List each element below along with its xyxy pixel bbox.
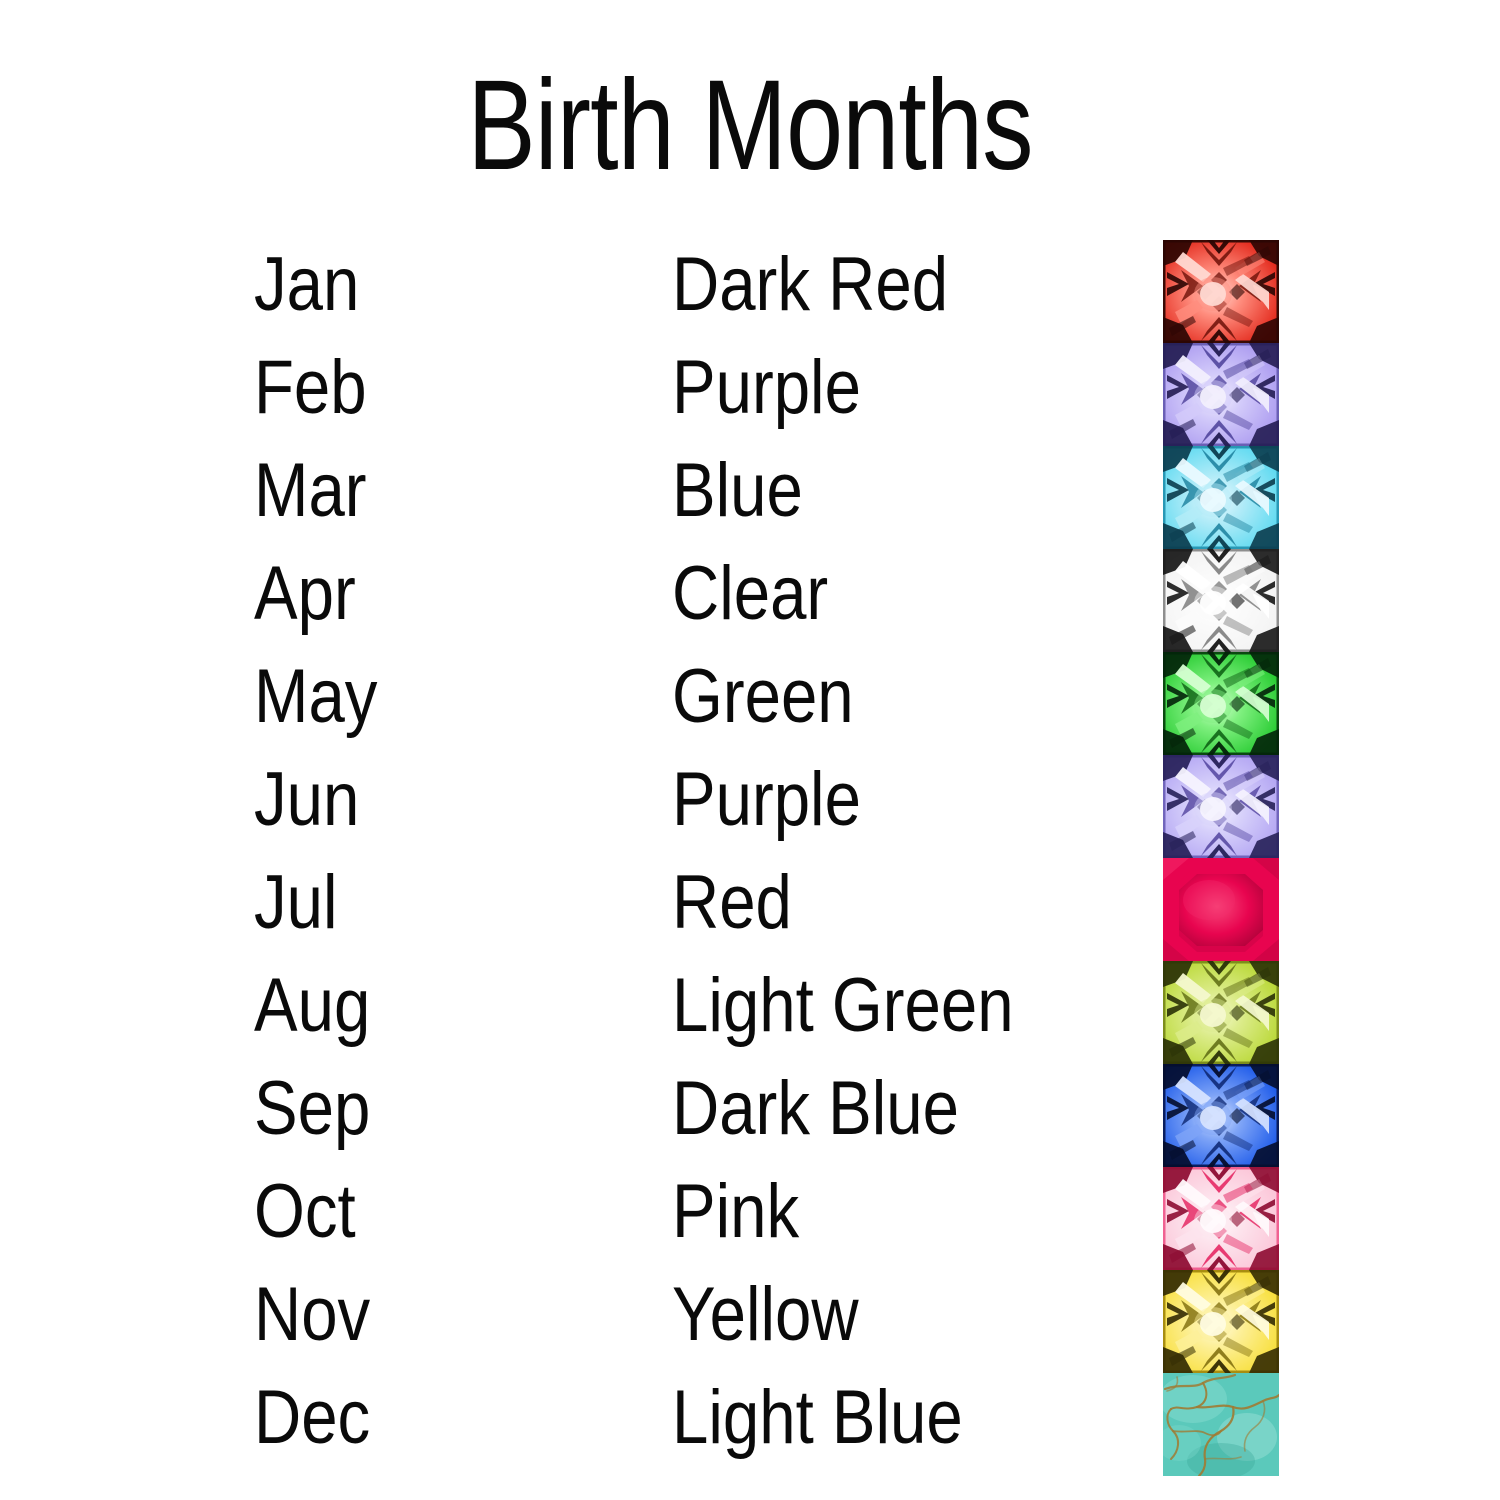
color-label: Green bbox=[672, 652, 854, 755]
color-label: Purple bbox=[672, 755, 861, 858]
color-label: Purple bbox=[672, 343, 861, 446]
citrine-gem bbox=[1163, 1270, 1279, 1373]
month-label: May bbox=[254, 652, 377, 755]
garnet-gem bbox=[1163, 240, 1279, 343]
month-label: Nov bbox=[254, 1270, 370, 1373]
month-label: Jun bbox=[254, 755, 359, 858]
month-label: Aug bbox=[254, 961, 370, 1064]
table-row: MarBlue bbox=[0, 446, 1500, 549]
sapphire-gem bbox=[1163, 1064, 1279, 1167]
month-label: Feb bbox=[254, 343, 367, 446]
birth-months-page: Birth Months JanDark RedFebPurpleMarBlue… bbox=[0, 0, 1500, 1500]
table-row: JulRed bbox=[0, 858, 1500, 961]
page-title: Birth Months bbox=[150, 62, 1350, 190]
ruby-gem bbox=[1163, 858, 1279, 961]
table-row: DecLight Blue bbox=[0, 1373, 1500, 1476]
emerald-gem bbox=[1163, 652, 1279, 755]
peridot-gem bbox=[1163, 961, 1279, 1064]
month-label: Sep bbox=[254, 1064, 370, 1167]
aquamarine-gem bbox=[1163, 446, 1279, 549]
month-label: Mar bbox=[254, 446, 367, 549]
color-label: Dark Blue bbox=[672, 1064, 959, 1167]
table-row: JunPurple bbox=[0, 755, 1500, 858]
table-row: JanDark Red bbox=[0, 240, 1500, 343]
color-label: Yellow bbox=[672, 1270, 859, 1373]
tourmaline-gem bbox=[1163, 1167, 1279, 1270]
amethyst-gem bbox=[1163, 343, 1279, 446]
diamond-gem bbox=[1163, 549, 1279, 652]
table-row: AugLight Green bbox=[0, 961, 1500, 1064]
month-label: Dec bbox=[254, 1373, 370, 1476]
table-row: NovYellow bbox=[0, 1270, 1500, 1373]
table-row: SepDark Blue bbox=[0, 1064, 1500, 1167]
color-label: Blue bbox=[672, 446, 803, 549]
birth-months-table: JanDark RedFebPurpleMarBlueAprClearMayGr… bbox=[0, 240, 1500, 1476]
table-row: FebPurple bbox=[0, 343, 1500, 446]
month-label: Apr bbox=[254, 549, 356, 652]
color-label: Red bbox=[672, 858, 792, 961]
table-row: AprClear bbox=[0, 549, 1500, 652]
alexandrite-gem bbox=[1163, 755, 1279, 858]
color-label: Clear bbox=[672, 549, 828, 652]
turquoise-gem bbox=[1163, 1373, 1279, 1476]
color-label: Pink bbox=[672, 1167, 799, 1270]
color-label: Light Green bbox=[672, 961, 1014, 1064]
month-label: Jul bbox=[254, 858, 338, 961]
month-label: Jan bbox=[254, 240, 359, 343]
color-label: Dark Red bbox=[672, 240, 948, 343]
table-row: MayGreen bbox=[0, 652, 1500, 755]
color-label: Light Blue bbox=[672, 1373, 963, 1476]
table-row: OctPink bbox=[0, 1167, 1500, 1270]
month-label: Oct bbox=[254, 1167, 356, 1270]
